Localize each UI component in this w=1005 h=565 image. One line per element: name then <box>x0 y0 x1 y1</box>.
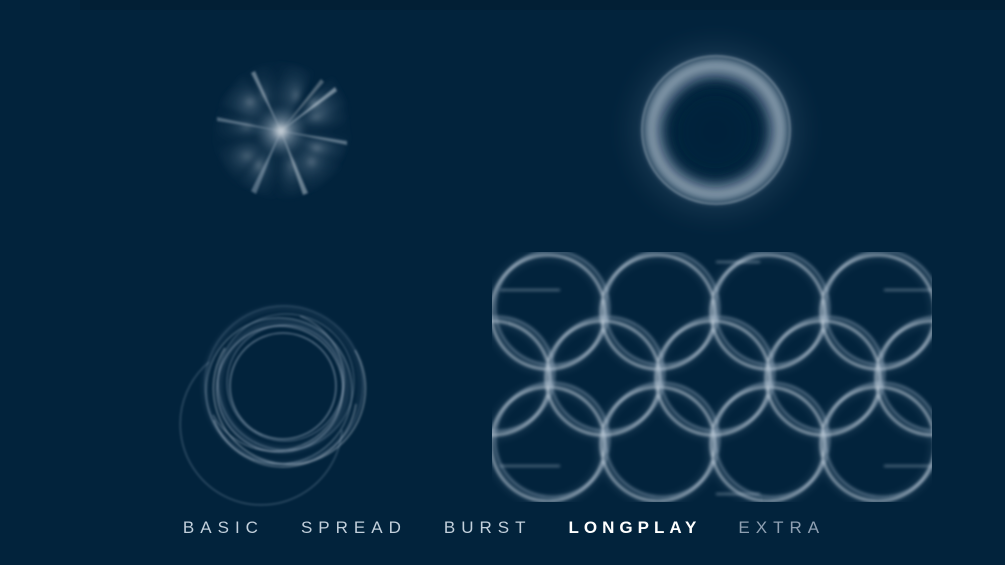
pinwheel-rays <box>217 71 347 195</box>
menu-item-extra[interactable]: EXTRA <box>718 513 842 542</box>
mode-menu[interactable]: BASIC SPREAD BURST LONGPLAY EXTRA <box>0 510 1005 544</box>
bubble-inner-polygon <box>660 78 770 186</box>
top-edge-band <box>80 0 1005 10</box>
pinwheel-core <box>255 105 307 157</box>
bubble-body <box>640 54 792 206</box>
artwork-layer <box>0 0 1005 565</box>
menu-item-spread[interactable]: SPREAD <box>281 513 424 542</box>
app-canvas: BASIC SPREAD BURST LONGPLAY EXTRA <box>0 0 1005 565</box>
glow-ring-bubble-group <box>628 42 804 218</box>
menu-item-burst[interactable]: BURST <box>424 513 549 542</box>
menu-item-longplay[interactable]: LONGPLAY <box>549 513 719 542</box>
pinwheel-burst-group <box>212 60 352 200</box>
menu-item-basic[interactable]: BASIC <box>163 513 281 542</box>
circle-lattice-group <box>436 251 994 501</box>
pinwheel-burst-overlay <box>199 49 364 214</box>
concentric-ripple-glow <box>205 308 361 464</box>
concentric-ripple-group <box>180 306 365 505</box>
artwork-canvas <box>0 0 1005 565</box>
